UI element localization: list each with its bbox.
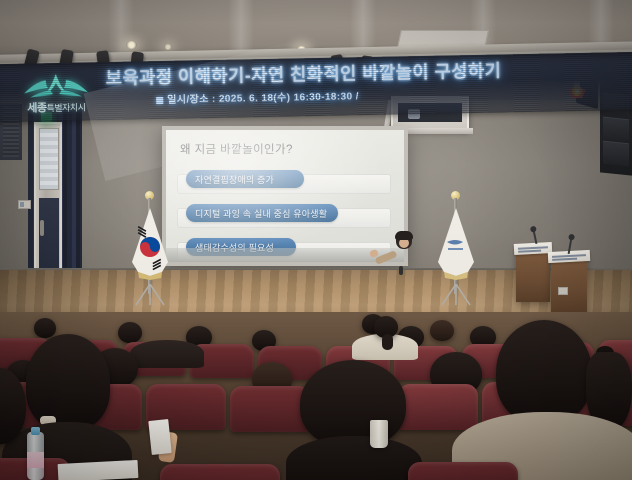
presenter-hair <box>395 231 413 240</box>
podium-left <box>516 248 550 302</box>
seat <box>408 462 518 480</box>
institution-flag <box>432 198 482 308</box>
flag-stand <box>438 284 474 306</box>
institution-flag-cloth <box>433 206 479 280</box>
slide-bullet-1: 자연결핍장애의 증가 <box>186 170 304 188</box>
flag-stand <box>132 284 168 306</box>
paper-handout[interactable] <box>58 460 139 480</box>
attendee-head <box>26 334 110 430</box>
attendee-head <box>118 322 142 343</box>
bottle-label <box>27 452 44 468</box>
presenter <box>383 232 425 324</box>
schedule-separator: : <box>212 94 216 105</box>
schedule-label: 일시/장소 <box>167 94 209 106</box>
paper-handout <box>148 419 171 455</box>
auditorium-photo: 세종특별자치시 보육과정 이해하기-자연 친화적인 바깥놀이 구성하기 일시/장… <box>0 0 632 480</box>
org-name-suffix: 특별자치시 <box>46 102 85 113</box>
seat <box>398 384 478 430</box>
audience-seating-area <box>0 312 632 480</box>
seat <box>230 386 310 432</box>
organization-logo: 세종특별자치시 <box>10 66 103 116</box>
attendee-head <box>496 320 592 424</box>
seat <box>160 464 280 480</box>
paper-cup[interactable] <box>370 420 388 448</box>
calendar-square-icon <box>156 97 163 104</box>
schedule-venue-separator: / <box>356 91 359 102</box>
wing-emblem-icon <box>20 71 92 98</box>
taegukgi-cloth <box>127 206 173 280</box>
light-switch-plate[interactable] <box>18 200 31 209</box>
schedule-time: 16:30-18:30 <box>294 91 353 103</box>
org-name-main: 세종 <box>27 102 46 114</box>
door-window <box>39 128 59 190</box>
slide-title: 왜 지금 바깥놀이인가? <box>180 141 293 157</box>
slide-bullet-1-label: 자연결핍장애의 증가 <box>195 173 274 186</box>
door-handle[interactable] <box>40 220 44 236</box>
schedule-date: 2025. 6. 18(수) <box>219 93 291 105</box>
organization-logo-text: 세종특별자치시 <box>27 98 85 115</box>
attendee-head <box>300 360 406 448</box>
podium-left-sign <box>514 242 553 255</box>
korean-national-flag <box>126 198 176 308</box>
bottle-cap[interactable] <box>31 427 40 435</box>
presenter-microphone <box>399 266 403 275</box>
slide-bullet-2-label: 디지털 과잉 속 실내 중심 유아생활 <box>195 207 327 220</box>
led-banner: 세종특별자치시 보육과정 이해하기-자연 친화적인 바깥놀이 구성하기 일시/장… <box>0 52 632 122</box>
ceiling-downlight <box>126 41 137 49</box>
screen-bottom-band <box>166 248 404 262</box>
wall-outlet <box>558 287 568 295</box>
attendee-shoulders <box>286 436 422 480</box>
attendee-head <box>430 320 454 341</box>
side-door[interactable] <box>34 122 62 286</box>
attendee-ponytail <box>382 334 393 350</box>
projection-screen: 왜 지금 바깥놀이인가? 자연결핍장애의 증가 디지털 과잉 속 실내 중심 유… <box>166 130 404 262</box>
podium-right <box>551 255 587 315</box>
slide-bullet-2: 디지털 과잉 속 실내 중심 유아생활 <box>186 204 338 222</box>
attendee-head <box>34 318 56 338</box>
ceiling-downlight <box>164 44 172 50</box>
attendee-shoulders <box>130 340 204 368</box>
